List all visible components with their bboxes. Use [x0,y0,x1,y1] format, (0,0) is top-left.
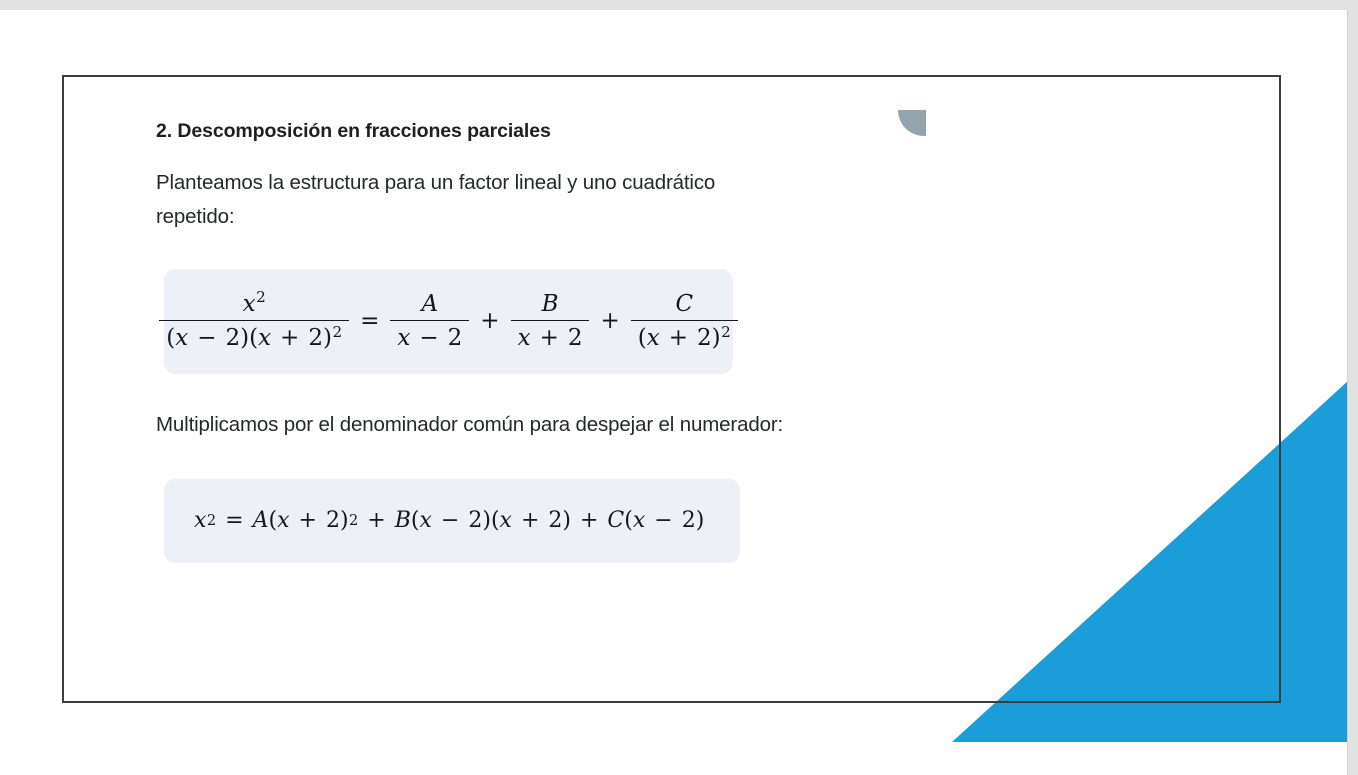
right-gutter [1348,0,1358,775]
exponent-2: 2 [256,288,266,306]
section-heading: 2. Descomposición en fracciones parciale… [156,119,856,144]
lhs-denominator: (x−2)(x+2)2 [159,320,349,351]
symbol-x: x [243,291,256,317]
slide-page: 2. Descomposición en fracciones parciale… [0,0,1358,775]
term-C-numerator: C [668,291,700,320]
lhs-numerator: x2 [236,291,273,320]
plus-sign-2: + [600,308,619,334]
term-B-denominator: x+2 [511,320,590,351]
term-B-numerator: B [535,291,566,320]
term-C-denominator: (x+2)2 [631,320,738,351]
card-inner: 2. Descomposición en fracciones parciale… [156,119,856,563]
slide-surface: 2. Descomposición en fracciones parciale… [0,10,1348,775]
lhs-fraction: x2 (x−2)(x+2)2 [159,291,349,352]
paragraph-multiply-intro: Multiplicamos por el denominador común p… [156,408,796,441]
term-B-fraction: B x+2 [511,291,590,352]
paragraph-structure-intro: Planteamos la estructura para un factor … [156,166,796,232]
term-C-fraction: C (x+2)2 [631,291,738,352]
equals-sign: = [360,308,379,334]
plus-sign-1: + [480,308,499,334]
equation-2-expression: x2 = A(x+2)2 + B(x−2)(x+2) + C(x−2) [194,508,704,533]
term-A-numerator: A [415,291,446,320]
equation-cleared-denominator-identity: x2 = A(x+2)2 + B(x−2)(x+2) + C(x−2) [164,479,740,563]
content-card: 2. Descomposición en fracciones parciale… [62,75,1281,703]
equation-1-expression: x2 (x−2)(x+2)2 = A x−2 + [157,291,740,352]
term-A-fraction: A x−2 [390,291,469,352]
top-gutter [0,0,1358,10]
term-A-denominator: x−2 [390,320,469,351]
equation-partial-fraction-decomposition: x2 (x−2)(x+2)2 = A x−2 + [164,269,733,374]
